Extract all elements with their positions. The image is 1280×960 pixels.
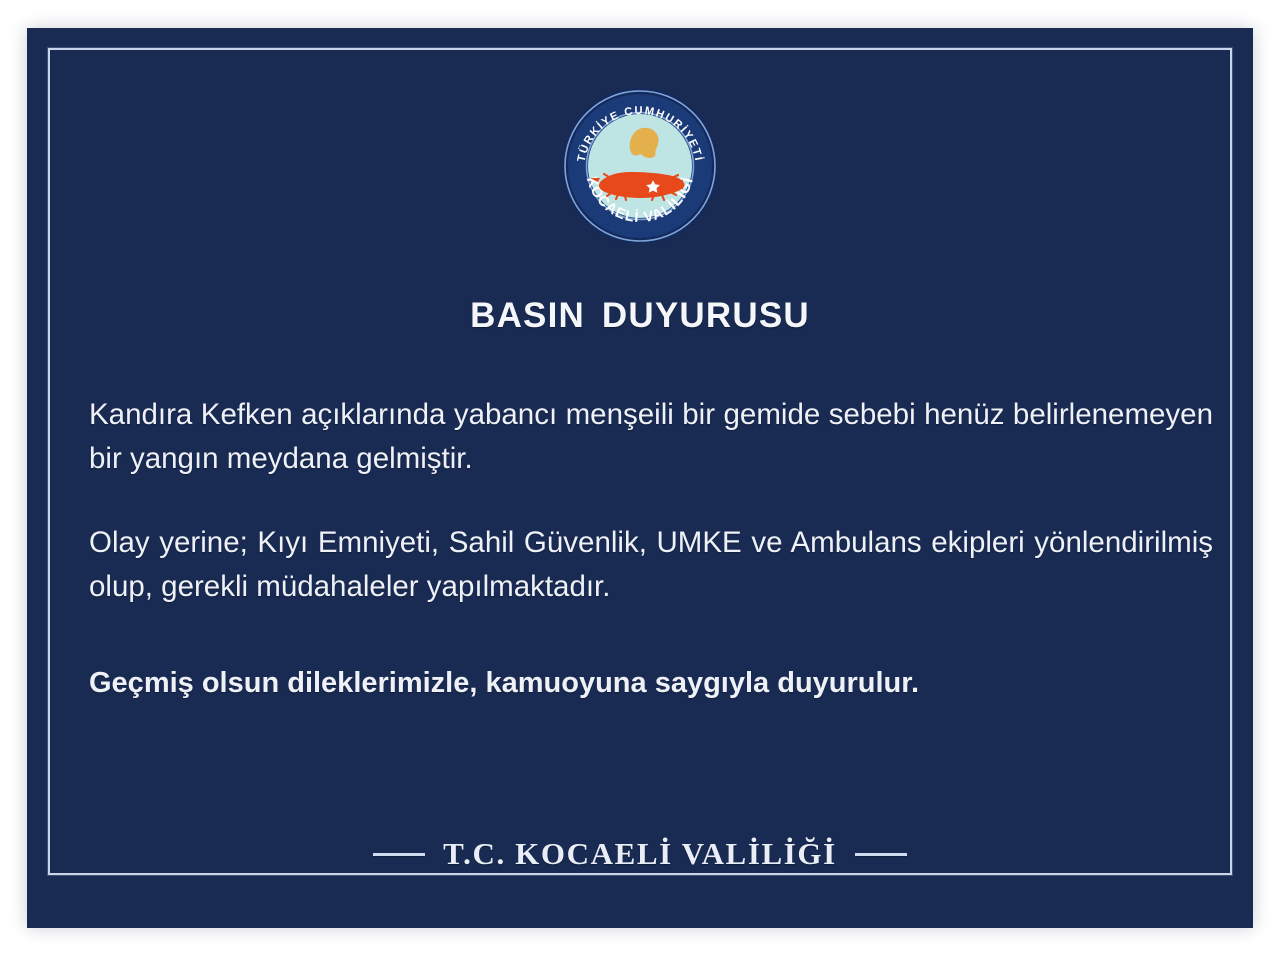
paragraph-2: Olay yerine; Kıyı Emniyeti, Sahil Güvenl… xyxy=(89,521,1213,609)
emblem-container: TÜRKİYE CUMHURİYETİ KOCAELİ VALİLİĞİ xyxy=(27,86,1253,246)
footer: T.C. KOCAELİ VALİLİĞİ xyxy=(27,836,1253,872)
kocaeli-governorship-emblem-icon: TÜRKİYE CUMHURİYETİ KOCAELİ VALİLİĞİ xyxy=(560,86,720,246)
press-release-page: TÜRKİYE CUMHURİYETİ KOCAELİ VALİLİĞİ xyxy=(0,0,1280,960)
announcement-card: TÜRKİYE CUMHURİYETİ KOCAELİ VALİLİĞİ xyxy=(27,28,1253,928)
announcement-body: Kandıra Kefken açıklarında yabancı menşe… xyxy=(89,393,1213,705)
footer-rule-left xyxy=(373,853,425,856)
paragraph-1: Kandıra Kefken açıklarında yabancı menşe… xyxy=(89,393,1213,481)
footer-rule-right xyxy=(855,853,907,856)
closing-statement: Geçmiş olsun dileklerimizle, kamuoyuna s… xyxy=(89,661,1213,705)
page-title: BASIN DUYURUSU xyxy=(27,296,1253,336)
footer-institution-name: T.C. KOCAELİ VALİLİĞİ xyxy=(443,836,837,872)
